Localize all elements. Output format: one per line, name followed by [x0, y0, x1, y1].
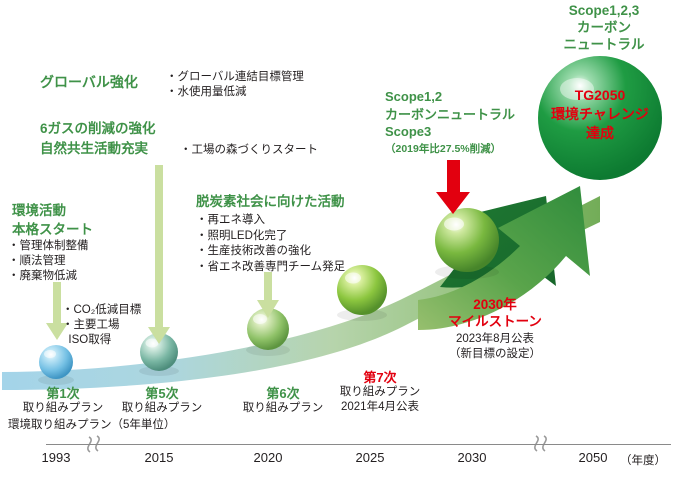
six-gas-title-line1: 6ガスの削減の強化 [40, 119, 156, 139]
six-gas-block-bullets: ・工場の森づくりスタート [180, 143, 318, 158]
goal-sphere-line1: TG2050 [538, 86, 662, 105]
global-bullet-2: ・水使用量低減 [166, 85, 304, 100]
milestone-sub-line2: （新目標の設定） [440, 347, 550, 362]
decarbon-bullet-1: ・再エネ導入 [196, 213, 345, 229]
scope-2030-line1: Scope1,2 [385, 88, 515, 106]
infographic-canvas: Scope1,2,3 カーボン ニュートラル TG2050 環境チャレンジ 達成… [0, 0, 681, 477]
timeline-axis [46, 444, 671, 445]
milestone-title: 2030年 マイルストーン [440, 296, 550, 330]
milestone-title-line2: マイルストーン [440, 313, 550, 330]
plan-label-1: 第1次 取り組みプラン [8, 386, 118, 416]
six-gas-title-line2: 自然共生活動充実 [40, 139, 156, 159]
axis-year-2050: 2050 [563, 450, 623, 465]
plan-1-line2: 取り組みプラン [8, 401, 118, 416]
scope-2030-note: （2019年比27.5%削減） [385, 141, 515, 159]
plan-5-heading: 第5次 [107, 386, 217, 401]
env-title-line2: 本格スタート [12, 220, 93, 239]
decarbon-block-bullets: ・再エネ導入 ・照明LED化完了 ・生産技術改善の強化 ・省エネ改善専門チーム発… [196, 213, 345, 275]
env-title-line1: 環境活動 [12, 201, 93, 220]
sphere-1993 [39, 345, 73, 379]
plan-1-heading: 第1次 [8, 386, 118, 401]
top-goal-line3: ニュートラル [527, 36, 681, 53]
scope-2030-line3: Scope3 [385, 123, 515, 141]
goal-sphere-line2: 環境チャレンジ [538, 105, 662, 124]
goal-sphere-line3: 達成 [538, 124, 662, 143]
co2-bullet-3: ISO取得 [62, 333, 141, 348]
env-bullet-3: ・廃棄物低減 [8, 269, 89, 284]
decarbon-block-title: 脱炭素社会に向けた活動 [196, 192, 345, 211]
env-bullet-1: ・管理体制整備 [8, 239, 89, 254]
axis-year-2015: 2015 [129, 450, 189, 465]
milestone-sub: 2023年8月公表 （新目標の設定） [440, 332, 550, 362]
co2-bullet-2: ・主要工場 [62, 318, 141, 333]
goal-sphere-label: TG2050 環境チャレンジ 達成 [538, 86, 662, 143]
co2-bullet-1: ・CO₂低減目標 [62, 303, 141, 318]
plan-label-7: 第7次 取り組みプラン 2021年4月公表 [320, 370, 440, 415]
axis-year-2025: 2025 [340, 450, 400, 465]
top-goal-line2: カーボン [527, 19, 681, 36]
top-goal-line1: Scope1,2,3 [527, 2, 681, 19]
axis-year-1993: 1993 [26, 450, 86, 465]
axis-year-2030: 2030 [442, 450, 502, 465]
six-gas-bullet-1: ・工場の森づくりスタート [180, 143, 318, 158]
env-block-title: 環境活動 本格スタート [12, 201, 93, 239]
plan-7-line3: 2021年4月公表 [320, 400, 440, 415]
axis-unit-label: （年度） [620, 452, 666, 468]
decarbon-bullet-3: ・生産技術改善の強化 [196, 244, 345, 260]
milestone-sub-line1: 2023年8月公表 [440, 332, 550, 347]
sphere-2030 [435, 208, 499, 272]
milestone-title-line1: 2030年 [440, 296, 550, 313]
plan-5-line2: 取り組みプラン [107, 401, 217, 416]
top-goal-label: Scope1,2,3 カーボン ニュートラル [527, 2, 681, 53]
scope-2030-label: Scope1,2 カーボンニュートラル Scope3 （2019年比27.5%削… [385, 88, 515, 158]
plan-7-heading: 第7次 [320, 370, 440, 385]
env-block-bullets: ・管理体制整備 ・順法管理 ・廃棄物低減 [8, 239, 89, 284]
global-bullet-1: ・グローバル連結目標管理 [166, 70, 304, 85]
plan-7-line2: 取り組みプラン [320, 385, 440, 400]
global-block-title: グローバル強化 [40, 74, 138, 91]
six-gas-block-title: 6ガスの削減の強化 自然共生活動充実 [40, 119, 156, 159]
decarbon-bullet-4: ・省エネ改善専門チーム発足 [196, 260, 345, 276]
axis-year-2020: 2020 [238, 450, 298, 465]
co2-block-bullets: ・CO₂低減目標 ・主要工場 ISO取得 [62, 303, 141, 348]
decarbon-bullet-2: ・照明LED化完了 [196, 229, 345, 245]
arrow-down-2030-red [436, 160, 470, 214]
env-bullet-2: ・順法管理 [8, 254, 89, 269]
arrow-down-2015 [148, 165, 170, 344]
global-block-bullets: ・グローバル連結目標管理 ・水使用量低減 [166, 70, 304, 100]
scope-2030-line2: カーボンニュートラル [385, 106, 515, 124]
plan-caption: 環境取り組みプラン（5年単位） [8, 416, 175, 432]
plan-label-5: 第5次 取り組みプラン [107, 386, 217, 416]
